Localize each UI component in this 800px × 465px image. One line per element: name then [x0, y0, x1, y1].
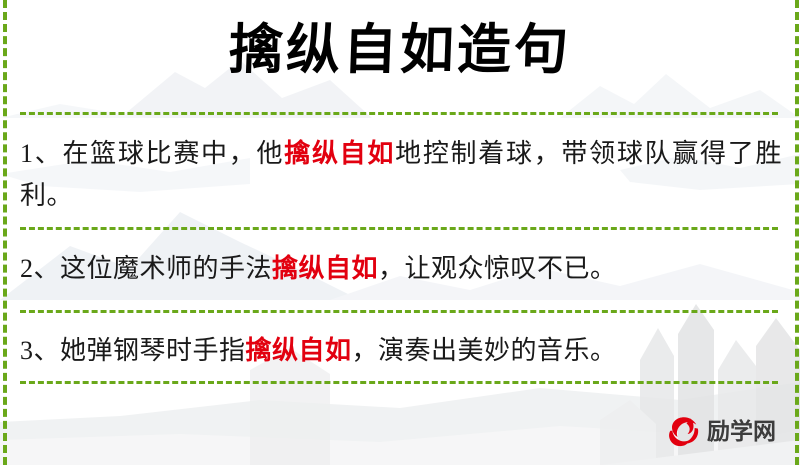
worksheet-page: 擒纵自如造句 1、在篮球比赛中，他擒纵自如地控制着球，带领球队赢得了胜利。 2、… [0, 0, 800, 465]
idiom-highlight-2: 擒纵自如 [272, 254, 378, 283]
separator-dashed-4 [20, 381, 778, 384]
separator-dashed-1 [20, 112, 778, 115]
sentence-text-before-2: 这位魔术师的手法 [60, 254, 272, 283]
separator-dashed-2 [20, 227, 778, 230]
sentence-text-after-3: ，演奏出美妙的音乐。 [352, 336, 617, 365]
sentence-text-before-1: 在篮球比赛中，他 [62, 139, 284, 168]
example-sentence-1: 1、在篮球比赛中，他擒纵自如地控制着球，带领球队赢得了胜利。 [20, 133, 782, 217]
site-watermark: 励学网 [666, 414, 776, 450]
page-title: 擒纵自如造句 [228, 18, 572, 80]
sentence-number-3: 3、 [20, 336, 60, 365]
example-sentence-3: 3、她弹钢琴时手指擒纵自如，演奏出美妙的音乐。 [20, 330, 782, 372]
idiom-highlight-3: 擒纵自如 [246, 336, 352, 365]
site-brand-name: 励学网 [707, 419, 776, 445]
flame-swirl-logo-icon [666, 414, 702, 450]
separator-dashed-3 [20, 310, 778, 313]
sentence-text-after-2: ，让观众惊叹不已。 [378, 254, 617, 283]
page-title-container: 擒纵自如造句 [0, 18, 800, 80]
sentence-text-before-3: 她弹钢琴时手指 [60, 336, 246, 365]
example-sentence-2: 2、这位魔术师的手法擒纵自如，让观众惊叹不已。 [20, 248, 782, 290]
sentence-number-2: 2、 [20, 254, 60, 283]
sentence-number-1: 1、 [20, 139, 62, 168]
idiom-highlight-1: 擒纵自如 [284, 139, 395, 168]
